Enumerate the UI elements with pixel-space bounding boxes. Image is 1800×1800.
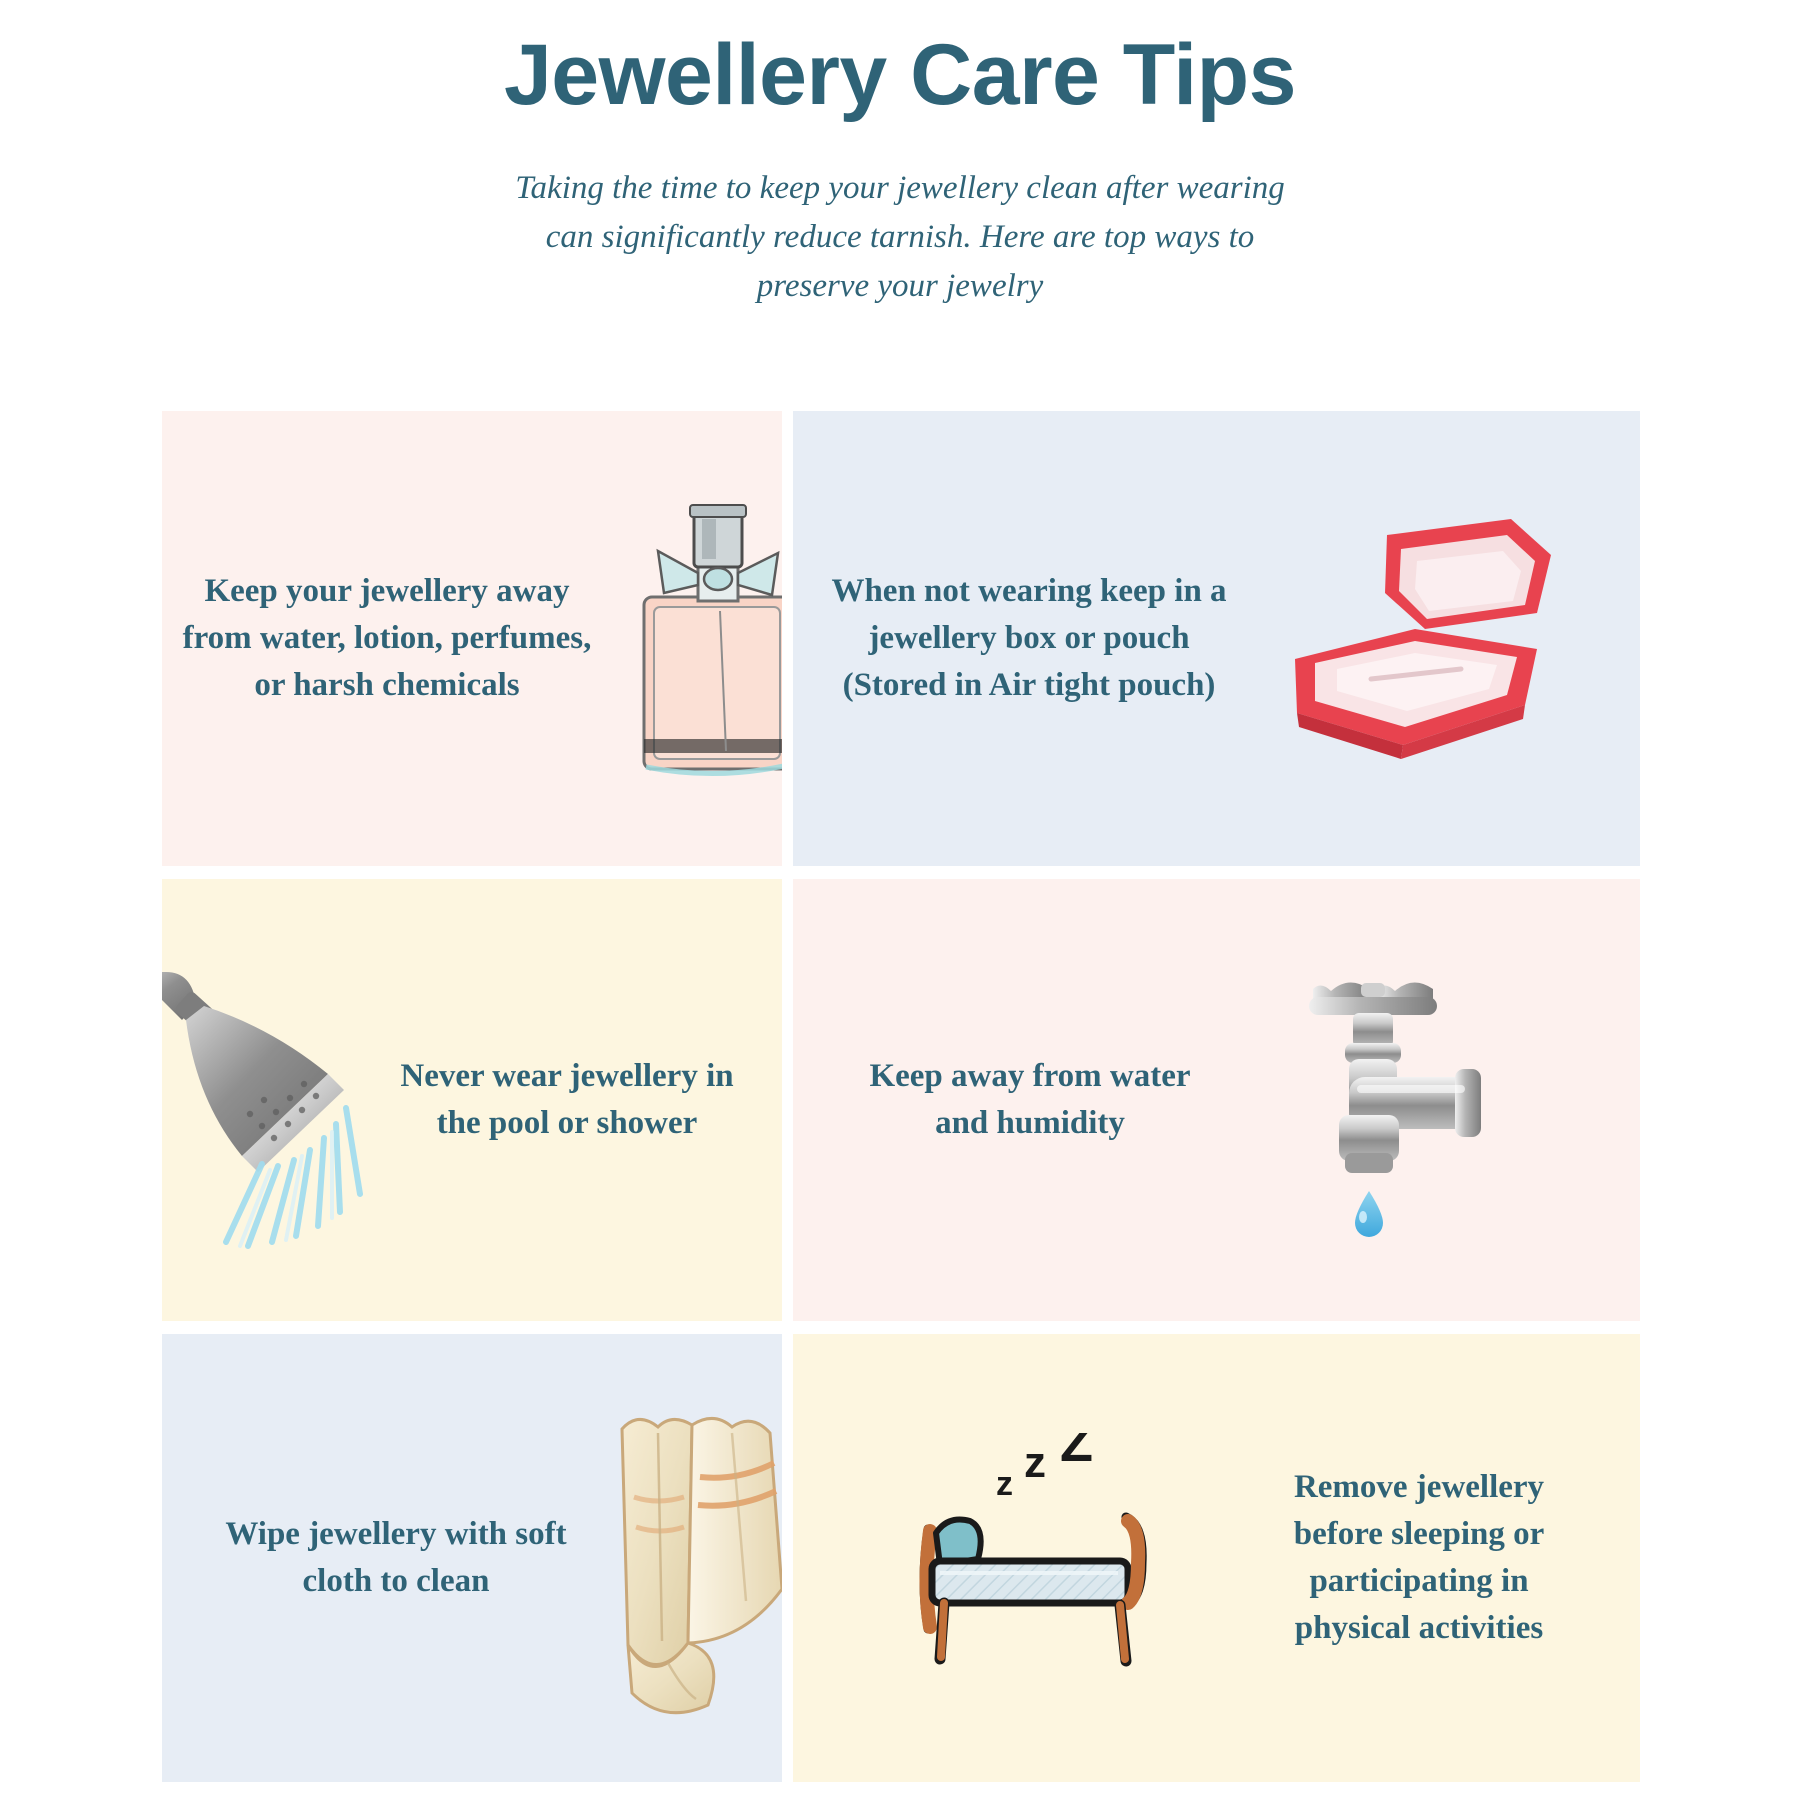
tip-text-sleeping: Remove jewellery before sleeping or part… — [1254, 1464, 1584, 1651]
tip-card-storage: When not wearing keep in a jewellery box… — [793, 411, 1640, 866]
svg-text:z: z — [996, 1465, 1013, 1503]
tip-card-chemicals: Keep your jewellery away from water, lot… — [162, 411, 782, 866]
page-subtitle: Taking the time to keep your jewellery c… — [500, 164, 1300, 310]
tip-illustration-storage — [1239, 509, 1640, 769]
tip-card-sleeping: Remove jewellery before sleeping or part… — [793, 1334, 1640, 1782]
tip-text-storage: When not wearing keep in a jewellery box… — [819, 568, 1239, 709]
jewellery-box-icon — [1275, 509, 1575, 769]
tip-card-shower: Never wear jewellery in the pool or show… — [162, 879, 782, 1321]
tip-illustration-sleeping: z z Z — [793, 1433, 1254, 1683]
tip-text-shower: Never wear jewellery in the pool or show… — [382, 1053, 752, 1147]
svg-text:Z: Z — [1060, 1433, 1093, 1473]
tip-card-wipe: Wipe jewellery with soft cloth to clean — [162, 1334, 782, 1782]
tip-illustration-wipe — [576, 1393, 782, 1723]
tip-illustration-humidity — [1205, 955, 1640, 1245]
bed-sleeping-icon: z z Z — [914, 1433, 1194, 1683]
soft-cloth-icon — [576, 1393, 782, 1723]
svg-text:z: z — [1024, 1438, 1046, 1487]
tip-illustration-chemicals — [602, 489, 782, 789]
header: Jewellery Care Tips Taking the time to k… — [0, 0, 1800, 311]
page-title: Jewellery Care Tips — [0, 30, 1800, 120]
tip-card-humidity: Keep away from water and humidity — [793, 879, 1640, 1321]
infographic-page: Jewellery Care Tips Taking the time to k… — [0, 0, 1800, 1800]
tip-text-wipe: Wipe jewellery with soft cloth to clean — [216, 1511, 576, 1605]
tip-text-chemicals: Keep your jewellery away from water, lot… — [172, 568, 602, 709]
tips-card-grid: Keep your jewellery away from water, lot… — [162, 411, 1640, 1782]
perfume-bottle-icon — [602, 489, 782, 789]
tip-illustration-shower — [162, 950, 382, 1250]
shower-head-icon — [162, 950, 382, 1250]
water-tap-icon — [1253, 955, 1513, 1245]
tip-text-humidity: Keep away from water and humidity — [855, 1053, 1205, 1147]
